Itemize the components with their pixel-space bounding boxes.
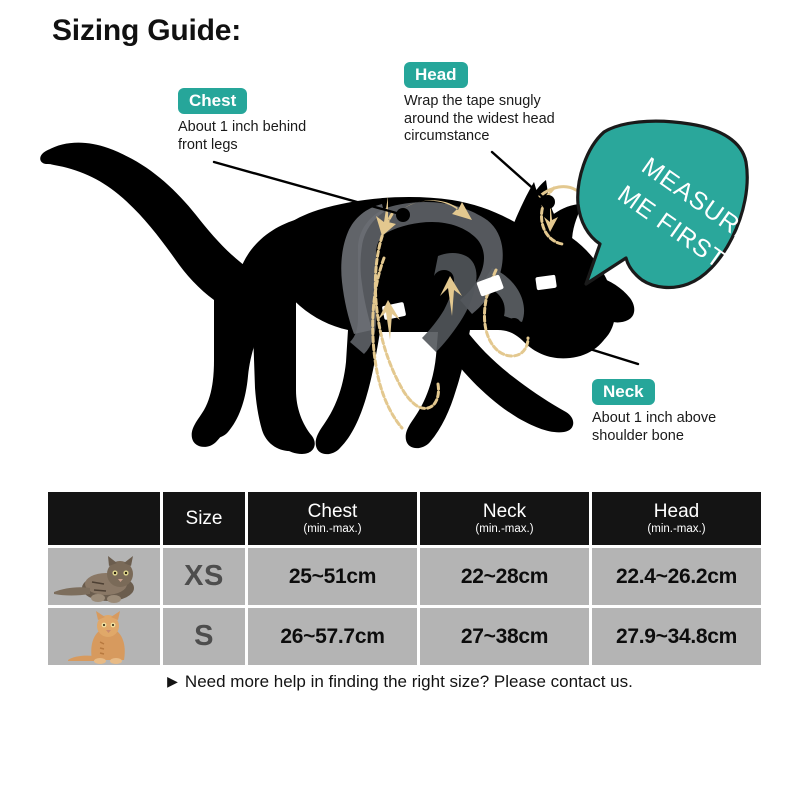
callout-chest: Chest About 1 inch behind front legs	[178, 88, 306, 154]
size-chart-table: Size Chest (min.-max.) Neck (min.-max.) …	[45, 489, 764, 668]
leader-line-head	[492, 152, 546, 200]
row-head-value: 27.9~34.8cm	[592, 608, 761, 665]
callout-head-badge: Head	[404, 62, 468, 88]
measure-me-first-bubble: MEASURE ME FIRST	[578, 121, 760, 287]
orange-cat-sitting-photo	[48, 608, 160, 665]
table-header-size: Size	[163, 492, 245, 545]
table-header-photo	[48, 492, 160, 545]
table-header-neck: Neck (min.-max.)	[420, 492, 589, 545]
row-size-value: S	[163, 608, 245, 665]
tabby-cat-lying-photo	[48, 548, 160, 605]
triangle-bullet-icon: ▶	[167, 673, 178, 690]
callout-head: Head Wrap the tape snugly around the wid…	[404, 62, 555, 146]
callout-neck: Neck About 1 inch above shoulder bone	[592, 379, 716, 445]
row-photo-cell	[48, 548, 160, 605]
row-photo-cell	[48, 608, 160, 665]
leader-dot-head	[541, 195, 555, 209]
leader-dot-neck	[507, 318, 521, 332]
leader-dot-chest	[396, 208, 410, 222]
table-row: XS 25~51cm 22~28cm 22.4~26.2cm	[48, 548, 761, 605]
row-chest-value: 26~57.7cm	[248, 608, 417, 665]
callout-chest-description: About 1 inch behind front legs	[178, 119, 306, 154]
callout-neck-badge: Neck	[592, 379, 655, 405]
row-head-value: 22.4~26.2cm	[592, 548, 761, 605]
callout-neck-description: About 1 inch above shoulder bone	[592, 410, 716, 445]
table-header-chest: Chest (min.-max.)	[248, 492, 417, 545]
leader-line-chest	[214, 162, 400, 214]
contact-us-note: ▶Need more help in finding the right siz…	[0, 672, 800, 692]
table-header-head: Head (min.-max.)	[592, 492, 761, 545]
contact-us-text: Need more help in finding the right size…	[185, 672, 633, 691]
row-size-value: XS	[163, 548, 245, 605]
table-header-row: Size Chest (min.-max.) Neck (min.-max.) …	[48, 492, 761, 545]
row-neck-value: 27~38cm	[420, 608, 589, 665]
row-neck-value: 22~28cm	[420, 548, 589, 605]
table-row: S 26~57.7cm 27~38cm 27.9~34.8cm	[48, 608, 761, 665]
cat-silhouette	[40, 143, 634, 455]
callout-chest-badge: Chest	[178, 88, 247, 114]
callout-head-description: Wrap the tape snugly around the widest h…	[404, 93, 555, 146]
row-chest-value: 25~51cm	[248, 548, 417, 605]
